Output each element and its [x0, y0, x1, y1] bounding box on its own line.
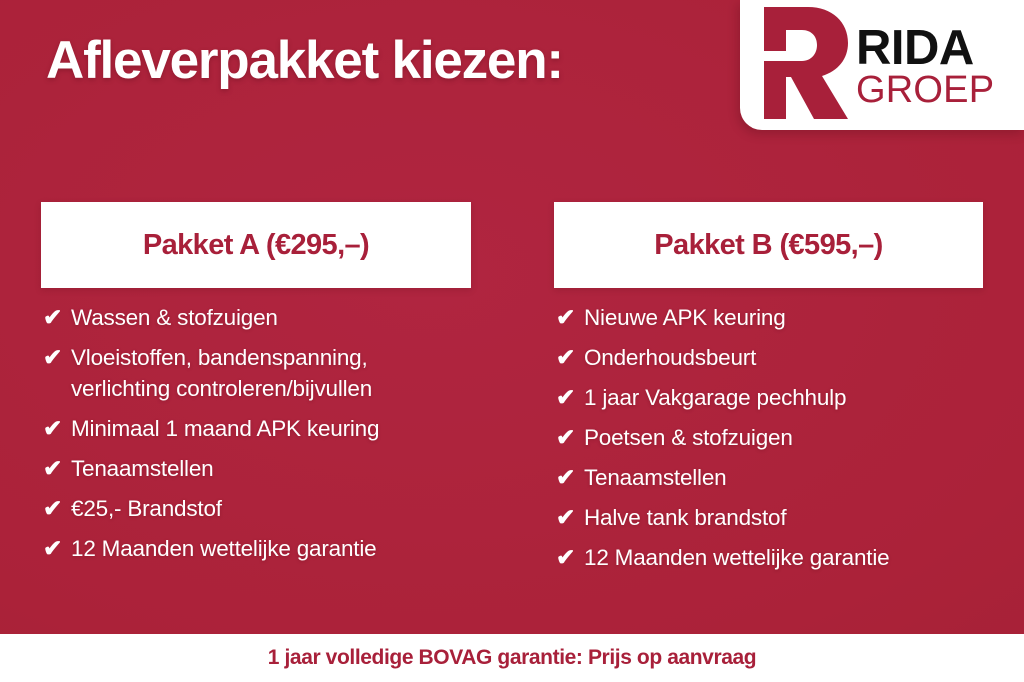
check-mark-icon: ✔ — [554, 342, 584, 373]
package-a-feature-list: ✔ Wassen & stofzuigen ✔ Vloeistoffen, ba… — [41, 288, 471, 564]
feature-text: Minimaal 1 maand APK keuring — [71, 413, 379, 444]
list-item: ✔ 12 Maanden wettelijke garantie — [554, 542, 983, 573]
package-card-b[interactable]: Pakket B (€595,–) ✔ Nieuwe APK keuring ✔… — [554, 202, 983, 582]
feature-text: 12 Maanden wettelijke garantie — [71, 533, 376, 564]
check-mark-icon: ✔ — [41, 302, 71, 333]
check-mark-icon: ✔ — [41, 453, 71, 484]
feature-text: Tenaamstellen — [71, 453, 214, 484]
footer-banner: 1 jaar volledige BOVAG garantie: Prijs o… — [0, 634, 1024, 682]
feature-text: Tenaamstellen — [584, 462, 727, 493]
check-mark-icon: ✔ — [554, 382, 584, 413]
list-item: ✔ Nieuwe APK keuring — [554, 302, 983, 333]
brand-wordmark: RIDA GROEP — [856, 26, 994, 108]
brand-logo-panel: RIDA GROEP — [740, 0, 1024, 130]
check-mark-icon: ✔ — [554, 502, 584, 533]
list-item: ✔ €25,- Brandstof — [41, 493, 471, 524]
list-item: ✔ Minimaal 1 maand APK keuring — [41, 413, 471, 444]
list-item: ✔ Vloeistoffen, bandenspanning, verlicht… — [41, 342, 471, 404]
rida-r-monogram-icon — [758, 5, 850, 121]
check-mark-icon: ✔ — [554, 422, 584, 453]
feature-text: Vloeistoffen, bandenspanning, verlichtin… — [71, 342, 471, 404]
package-a-header: Pakket A (€295,–) — [41, 202, 471, 288]
feature-text: Poetsen & stofzuigen — [584, 422, 793, 453]
list-item: ✔ Wassen & stofzuigen — [41, 302, 471, 333]
check-mark-icon: ✔ — [41, 493, 71, 524]
brand-name: RIDA — [856, 26, 994, 71]
package-card-a[interactable]: Pakket A (€295,–) ✔ Wassen & stofzuigen … — [41, 202, 471, 573]
list-item: ✔ Tenaamstellen — [41, 453, 471, 484]
feature-text: Halve tank brandstof — [584, 502, 786, 533]
package-columns: Pakket A (€295,–) ✔ Wassen & stofzuigen … — [0, 202, 1024, 612]
feature-text: 12 Maanden wettelijke garantie — [584, 542, 889, 573]
brand-subname: GROEP — [856, 73, 994, 108]
list-item: ✔ Halve tank brandstof — [554, 502, 983, 533]
check-mark-icon: ✔ — [554, 542, 584, 573]
check-mark-icon: ✔ — [41, 342, 71, 373]
feature-text: Wassen & stofzuigen — [71, 302, 278, 333]
list-item: ✔ Tenaamstellen — [554, 462, 983, 493]
package-a-title: Pakket A (€295,–) — [143, 229, 369, 262]
feature-text: Nieuwe APK keuring — [584, 302, 786, 333]
feature-text: €25,- Brandstof — [71, 493, 222, 524]
feature-text: Onderhoudsbeurt — [584, 342, 756, 373]
package-b-header: Pakket B (€595,–) — [554, 202, 983, 288]
check-mark-icon: ✔ — [41, 413, 71, 444]
package-b-title: Pakket B (€595,–) — [654, 229, 882, 262]
afleverpakket-poster: Afleverpakket kiezen: RIDA GROEP Pakket … — [0, 0, 1024, 682]
list-item: ✔ 12 Maanden wettelijke garantie — [41, 533, 471, 564]
feature-text: 1 jaar Vakgarage pechhulp — [584, 382, 846, 413]
check-mark-icon: ✔ — [554, 462, 584, 493]
list-item: ✔ Onderhoudsbeurt — [554, 342, 983, 373]
list-item: ✔ Poetsen & stofzuigen — [554, 422, 983, 453]
footer-text: 1 jaar volledige BOVAG garantie: Prijs o… — [268, 646, 756, 670]
package-b-feature-list: ✔ Nieuwe APK keuring ✔ Onderhoudsbeurt ✔… — [554, 288, 983, 573]
check-mark-icon: ✔ — [41, 533, 71, 564]
page-title: Afleverpakket kiezen: — [46, 30, 563, 91]
check-mark-icon: ✔ — [554, 302, 584, 333]
list-item: ✔ 1 jaar Vakgarage pechhulp — [554, 382, 983, 413]
